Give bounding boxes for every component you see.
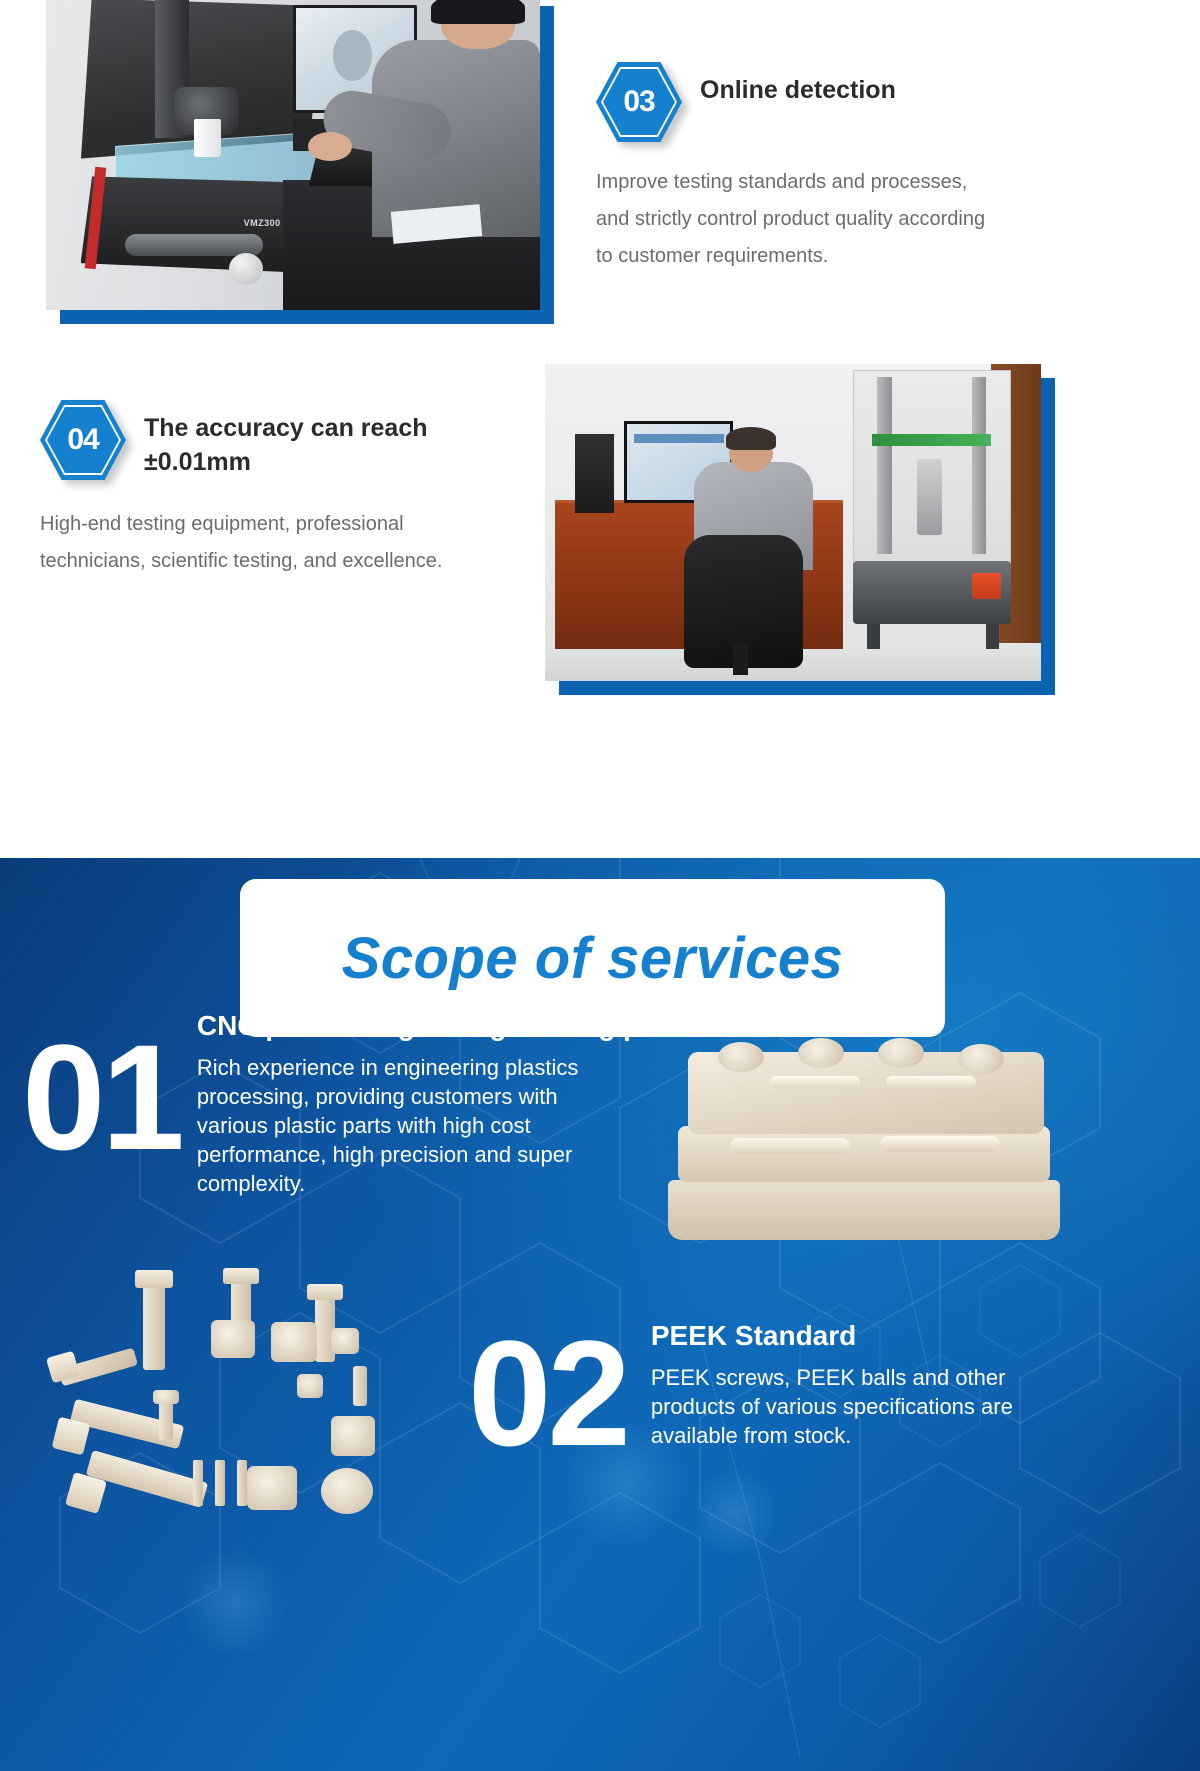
photo-tester-leg-left	[867, 624, 879, 649]
service-description: PEEK screws, PEEK balls and other produc…	[651, 1363, 1021, 1450]
peek-hex-nut	[331, 1416, 375, 1456]
peek-bolt-head-angled	[52, 1417, 91, 1456]
photo-operator-hair	[726, 427, 776, 449]
peek-hex-nut	[297, 1374, 323, 1398]
photo-chair-post	[733, 643, 748, 675]
peek-hex-nut	[247, 1466, 297, 1510]
photo-tester-grip	[917, 459, 942, 535]
peek-pin	[237, 1460, 247, 1506]
service-title: CNC processing of engineering plastics	[197, 1008, 728, 1043]
hexagon-badge-icon: 03	[596, 62, 682, 142]
glow-blob	[180, 1548, 290, 1658]
service-block-cnc-processing: 01 CNC processing of engineering plastic…	[22, 1008, 727, 1198]
feature-title: The accuracy can reach ±0.01mm	[144, 400, 474, 480]
peek-mid-rail	[678, 1126, 1050, 1182]
peek-slot	[880, 1136, 1000, 1152]
photo-tensile-testing-lab	[545, 364, 1041, 681]
photo-operator-hand	[308, 132, 352, 161]
peek-bolt-head	[307, 1284, 343, 1300]
feature-description: High-end testing equipment, professional…	[40, 506, 470, 580]
photo-tester-crosshead	[872, 434, 991, 447]
peek-tooth	[958, 1044, 1004, 1074]
peek-bolt-angled	[86, 1450, 209, 1508]
photo-tester-leg-right	[986, 624, 998, 649]
peek-pin	[215, 1460, 225, 1506]
photo-operator-cap	[431, 0, 525, 24]
photo-screen-measurement-circle	[333, 30, 373, 81]
product-image-peek-fasteners	[35, 1270, 455, 1560]
photo-tester-column-left	[877, 377, 892, 555]
peek-tooth	[878, 1038, 924, 1068]
service-text: PEEK Standard PEEK screws, PEEK balls an…	[651, 1318, 1021, 1450]
photo-machine-knob	[229, 253, 264, 285]
glow-blob	[690, 1468, 780, 1558]
photo-optical-measuring-machine: VMZ300	[46, 0, 540, 310]
service-title: PEEK Standard	[651, 1318, 1021, 1353]
peek-hex-nut	[331, 1328, 359, 1354]
photo-sample-part	[194, 119, 221, 157]
photo-image-optical-measuring: VMZ300	[46, 0, 540, 310]
photo-image-tensile-lab	[545, 364, 1041, 681]
service-text: CNC processing of engineering plastics R…	[197, 1008, 728, 1198]
peek-bolt-shaft	[143, 1278, 165, 1370]
feature-number: 04	[40, 400, 126, 480]
peek-tooth	[718, 1042, 764, 1072]
service-number: 01	[22, 1022, 181, 1172]
peek-bolt-head	[135, 1270, 173, 1288]
photo-tester-column-right	[972, 377, 987, 555]
peek-bolt-head	[223, 1268, 259, 1284]
peek-tooth	[798, 1038, 844, 1068]
service-number: 02	[468, 1318, 627, 1468]
peek-washer	[321, 1468, 373, 1514]
page-root: VMZ300	[0, 0, 1200, 1771]
feature-description: Improve testing standards and processes,…	[596, 164, 991, 275]
peek-pin	[193, 1460, 203, 1506]
feature-title: Online detection	[700, 62, 896, 108]
peek-hex-nut	[211, 1320, 255, 1358]
peek-small-screw	[353, 1366, 367, 1406]
photo-machine-label: VMZ300	[244, 218, 281, 228]
photo-tester-control-panel	[972, 573, 1002, 598]
page-title: Scope of services	[342, 925, 844, 992]
hexagon-badge-icon: 04	[40, 400, 126, 480]
feature-header: 04 The accuracy can reach ±0.01mm	[40, 400, 530, 480]
peek-small-screw-head	[153, 1390, 179, 1404]
peek-hex-nut	[271, 1322, 317, 1362]
product-image-peek-bracket	[660, 1030, 1060, 1260]
peek-slot	[730, 1138, 850, 1154]
detection-features-section: VMZ300	[0, 0, 1200, 858]
feature-number: 03	[596, 62, 682, 142]
photo-screen-chart	[634, 434, 723, 444]
feature-block-accuracy: 04 The accuracy can reach ±0.01mm High-e…	[40, 400, 530, 580]
peek-groove	[886, 1076, 976, 1088]
feature-header: 03 Online detection	[596, 62, 1026, 142]
service-description: Rich experience in engineering plastics …	[197, 1053, 612, 1198]
peek-base-rail	[668, 1180, 1060, 1240]
feature-block-online-detection: 03 Online detection Improve testing stan…	[596, 62, 1026, 275]
peek-groove	[770, 1076, 860, 1088]
service-block-peek-standard: 02 PEEK Standard PEEK screws, PEEK balls…	[468, 1318, 1021, 1468]
photo-computer-tower	[575, 434, 615, 513]
